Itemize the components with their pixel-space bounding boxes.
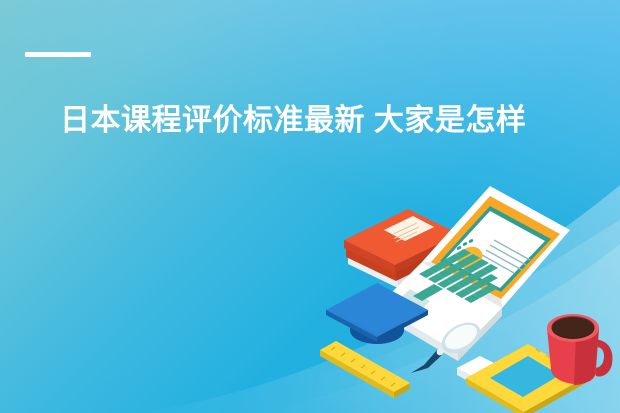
page-title: 日本课程评价标准最新 大家是怎样 — [60, 100, 560, 142]
accent-rule — [25, 52, 91, 57]
education-desk-illustration — [318, 178, 620, 413]
banner: 日本课程评价标准最新 大家是怎样 — [0, 0, 620, 413]
